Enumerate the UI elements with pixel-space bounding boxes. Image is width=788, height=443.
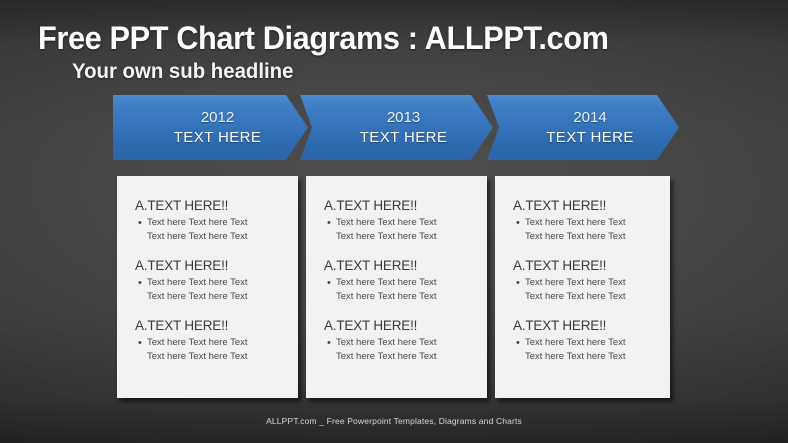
content-panel-1[interactable]: A.TEXT HERE!! • Text here Text here Text… bbox=[117, 176, 298, 398]
content-block: A.TEXT HERE!! • Text here Text here Text… bbox=[135, 198, 288, 244]
bullet-body: Text here Text here Text Text here Text … bbox=[336, 216, 437, 244]
block-heading: A.TEXT HERE!! bbox=[135, 258, 288, 273]
bullet-line-1: Text here Text here Text bbox=[147, 336, 248, 350]
bullet-row: • Text here Text here Text Text here Tex… bbox=[135, 216, 288, 244]
bullet-point-icon: • bbox=[135, 276, 147, 290]
block-heading: A.TEXT HERE!! bbox=[513, 198, 660, 213]
bullet-line-1: Text here Text here Text bbox=[147, 276, 248, 290]
bullet-line-1: Text here Text here Text bbox=[336, 276, 437, 290]
bullet-line-2: Text here Text here Text bbox=[147, 350, 248, 364]
bullet-line-2: Text here Text here Text bbox=[525, 350, 626, 364]
bullet-line-1: Text here Text here Text bbox=[336, 216, 437, 230]
bullet-row: • Text here Text here Text Text here Tex… bbox=[513, 216, 660, 244]
bullet-line-1: Text here Text here Text bbox=[147, 216, 248, 230]
bullet-line-1: Text here Text here Text bbox=[525, 276, 626, 290]
bullet-line-1: Text here Text here Text bbox=[336, 336, 437, 350]
chevron-text-2: TEXT HERE bbox=[360, 127, 448, 148]
bullet-row: • Text here Text here Text Text here Tex… bbox=[513, 276, 660, 304]
block-heading: A.TEXT HERE!! bbox=[135, 198, 288, 213]
footer-credit: ALLPPT.com _ Free Powerpoint Templates, … bbox=[0, 416, 788, 426]
chevron-labels-3: 2014 TEXT HERE bbox=[487, 95, 679, 160]
bullet-line-2: Text here Text here Text bbox=[147, 230, 248, 244]
block-heading: A.TEXT HERE!! bbox=[324, 318, 477, 333]
bullet-line-2: Text here Text here Text bbox=[525, 290, 626, 304]
bullet-point-icon: • bbox=[513, 336, 525, 350]
content-block: A.TEXT HERE!! • Text here Text here Text… bbox=[513, 258, 660, 304]
bullet-body: Text here Text here Text Text here Text … bbox=[147, 216, 248, 244]
content-block: A.TEXT HERE!! • Text here Text here Text… bbox=[324, 258, 477, 304]
bullet-point-icon: • bbox=[513, 216, 525, 230]
chevron-year-3: 2014 bbox=[573, 108, 606, 127]
content-block: A.TEXT HERE!! • Text here Text here Text… bbox=[513, 318, 660, 364]
bullet-body: Text here Text here Text Text here Text … bbox=[147, 276, 248, 304]
bullet-line-2: Text here Text here Text bbox=[336, 290, 437, 304]
bullet-body: Text here Text here Text Text here Text … bbox=[147, 336, 248, 364]
bullet-row: • Text here Text here Text Text here Tex… bbox=[324, 276, 477, 304]
bullet-point-icon: • bbox=[135, 216, 147, 230]
bullet-row: • Text here Text here Text Text here Tex… bbox=[135, 276, 288, 304]
content-panels: A.TEXT HERE!! • Text here Text here Text… bbox=[117, 176, 670, 398]
content-panel-3[interactable]: A.TEXT HERE!! • Text here Text here Text… bbox=[495, 176, 670, 398]
content-block: A.TEXT HERE!! • Text here Text here Text… bbox=[135, 318, 288, 364]
content-block: A.TEXT HERE!! • Text here Text here Text… bbox=[324, 318, 477, 364]
bullet-row: • Text here Text here Text Text here Tex… bbox=[135, 336, 288, 364]
bullet-row: • Text here Text here Text Text here Tex… bbox=[324, 336, 477, 364]
bullet-body: Text here Text here Text Text here Text … bbox=[525, 336, 626, 364]
chevron-labels-2: 2013 TEXT HERE bbox=[300, 95, 493, 160]
content-block: A.TEXT HERE!! • Text here Text here Text… bbox=[135, 258, 288, 304]
bullet-body: Text here Text here Text Text here Text … bbox=[525, 216, 626, 244]
chevron-text-1: TEXT HERE bbox=[174, 127, 262, 148]
bullet-point-icon: • bbox=[135, 336, 147, 350]
chevron-timeline: 2012 TEXT HERE 2013 TEXT HERE 2014 TEXT … bbox=[113, 95, 679, 160]
block-heading: A.TEXT HERE!! bbox=[324, 258, 477, 273]
content-block: A.TEXT HERE!! • Text here Text here Text… bbox=[513, 198, 660, 244]
block-heading: A.TEXT HERE!! bbox=[513, 318, 660, 333]
bullet-line-2: Text here Text here Text bbox=[336, 230, 437, 244]
bullet-line-2: Text here Text here Text bbox=[525, 230, 626, 244]
page-subtitle: Your own sub headline bbox=[72, 60, 293, 84]
bullet-point-icon: • bbox=[324, 336, 336, 350]
bullet-line-2: Text here Text here Text bbox=[147, 290, 248, 304]
block-heading: A.TEXT HERE!! bbox=[135, 318, 288, 333]
page-title: Free PPT Chart Diagrams : ALLPPT.com bbox=[38, 20, 609, 57]
bullet-line-1: Text here Text here Text bbox=[525, 216, 626, 230]
bullet-body: Text here Text here Text Text here Text … bbox=[336, 336, 437, 364]
block-heading: A.TEXT HERE!! bbox=[324, 198, 477, 213]
chevron-year-2: 2013 bbox=[387, 108, 420, 127]
bullet-row: • Text here Text here Text Text here Tex… bbox=[324, 216, 477, 244]
bullet-point-icon: • bbox=[324, 216, 336, 230]
chevron-step-2[interactable]: 2013 TEXT HERE bbox=[300, 95, 493, 160]
bullet-body: Text here Text here Text Text here Text … bbox=[336, 276, 437, 304]
chevron-year-1: 2012 bbox=[201, 108, 234, 127]
bullet-line-1: Text here Text here Text bbox=[525, 336, 626, 350]
content-panel-2[interactable]: A.TEXT HERE!! • Text here Text here Text… bbox=[306, 176, 487, 398]
bullet-point-icon: • bbox=[513, 276, 525, 290]
bullet-line-2: Text here Text here Text bbox=[336, 350, 437, 364]
chevron-text-3: TEXT HERE bbox=[546, 127, 634, 148]
bullet-body: Text here Text here Text Text here Text … bbox=[525, 276, 626, 304]
chevron-step-1[interactable]: 2012 TEXT HERE bbox=[113, 95, 308, 160]
chevron-step-3[interactable]: 2014 TEXT HERE bbox=[487, 95, 679, 160]
block-heading: A.TEXT HERE!! bbox=[513, 258, 660, 273]
bullet-row: • Text here Text here Text Text here Tex… bbox=[513, 336, 660, 364]
bullet-point-icon: • bbox=[324, 276, 336, 290]
content-block: A.TEXT HERE!! • Text here Text here Text… bbox=[324, 198, 477, 244]
chevron-labels-1: 2012 TEXT HERE bbox=[113, 95, 308, 160]
slide-canvas: Free PPT Chart Diagrams : ALLPPT.com You… bbox=[0, 0, 788, 443]
